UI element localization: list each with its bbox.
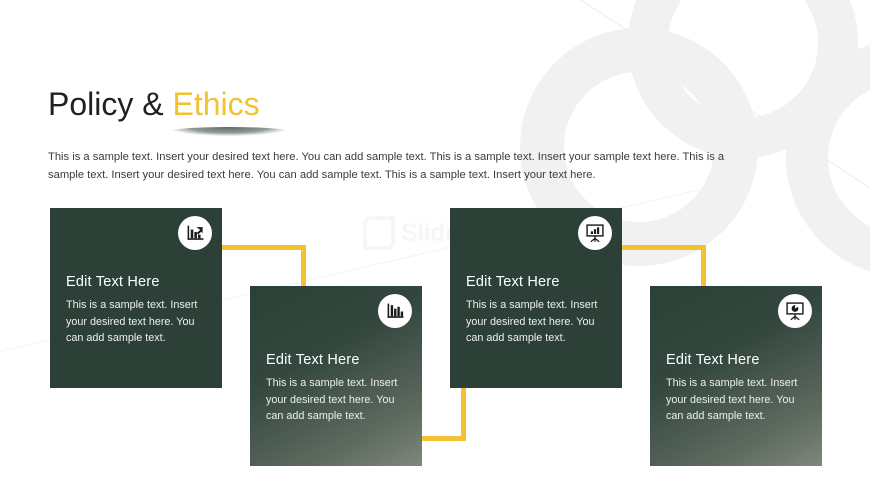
connector-1-vertical [301, 245, 306, 291]
slidemodel-logo-icon [363, 216, 395, 250]
slide-canvas: SlideModel .net Policy & Ethics This is … [0, 0, 870, 489]
bar-chart-decline-icon [178, 216, 212, 250]
connector-1-horizontal [218, 245, 306, 250]
presentation-bar-chart-icon [578, 216, 612, 250]
page-title: Policy & Ethics [48, 82, 260, 126]
connector-3-horizontal [618, 245, 706, 250]
card-1[interactable]: Edit Text Here This is a sample text. In… [50, 208, 222, 388]
connector-3-vertical [701, 245, 706, 291]
card-2-inner: Edit Text Here This is a sample text. In… [266, 286, 406, 466]
title-underline-swoosh [168, 127, 290, 136]
card-4[interactable]: Edit Text Here This is a sample text. In… [650, 286, 822, 466]
card-4-body: This is a sample text. Insert your desir… [666, 375, 806, 425]
decorative-ring-top [628, 0, 858, 158]
card-1-body: This is a sample text. Insert your desir… [66, 297, 206, 347]
card-3-body: This is a sample text. Insert your desir… [466, 297, 606, 347]
card-3-inner: Edit Text Here This is a sample text. In… [466, 208, 606, 388]
page-title-accent: Ethics [172, 86, 259, 122]
bar-chart-icon [378, 294, 412, 328]
connector-2-vertical [461, 383, 466, 441]
decorative-ring-right [786, 40, 870, 276]
card-2-body: This is a sample text. Insert your desir… [266, 375, 406, 425]
card-3[interactable]: Edit Text Here This is a sample text. In… [450, 208, 622, 388]
intro-paragraph: This is a sample text. Insert your desir… [48, 148, 748, 184]
card-2[interactable]: Edit Text Here This is a sample text. In… [250, 286, 422, 466]
page-title-wrap: Policy & Ethics [48, 82, 260, 126]
page-title-main: Policy & [48, 86, 172, 122]
card-1-inner: Edit Text Here This is a sample text. In… [66, 208, 206, 388]
card-4-inner: Edit Text Here This is a sample text. In… [666, 286, 806, 466]
presentation-pie-chart-icon [778, 294, 812, 328]
connector-2-horizontal [418, 436, 466, 441]
